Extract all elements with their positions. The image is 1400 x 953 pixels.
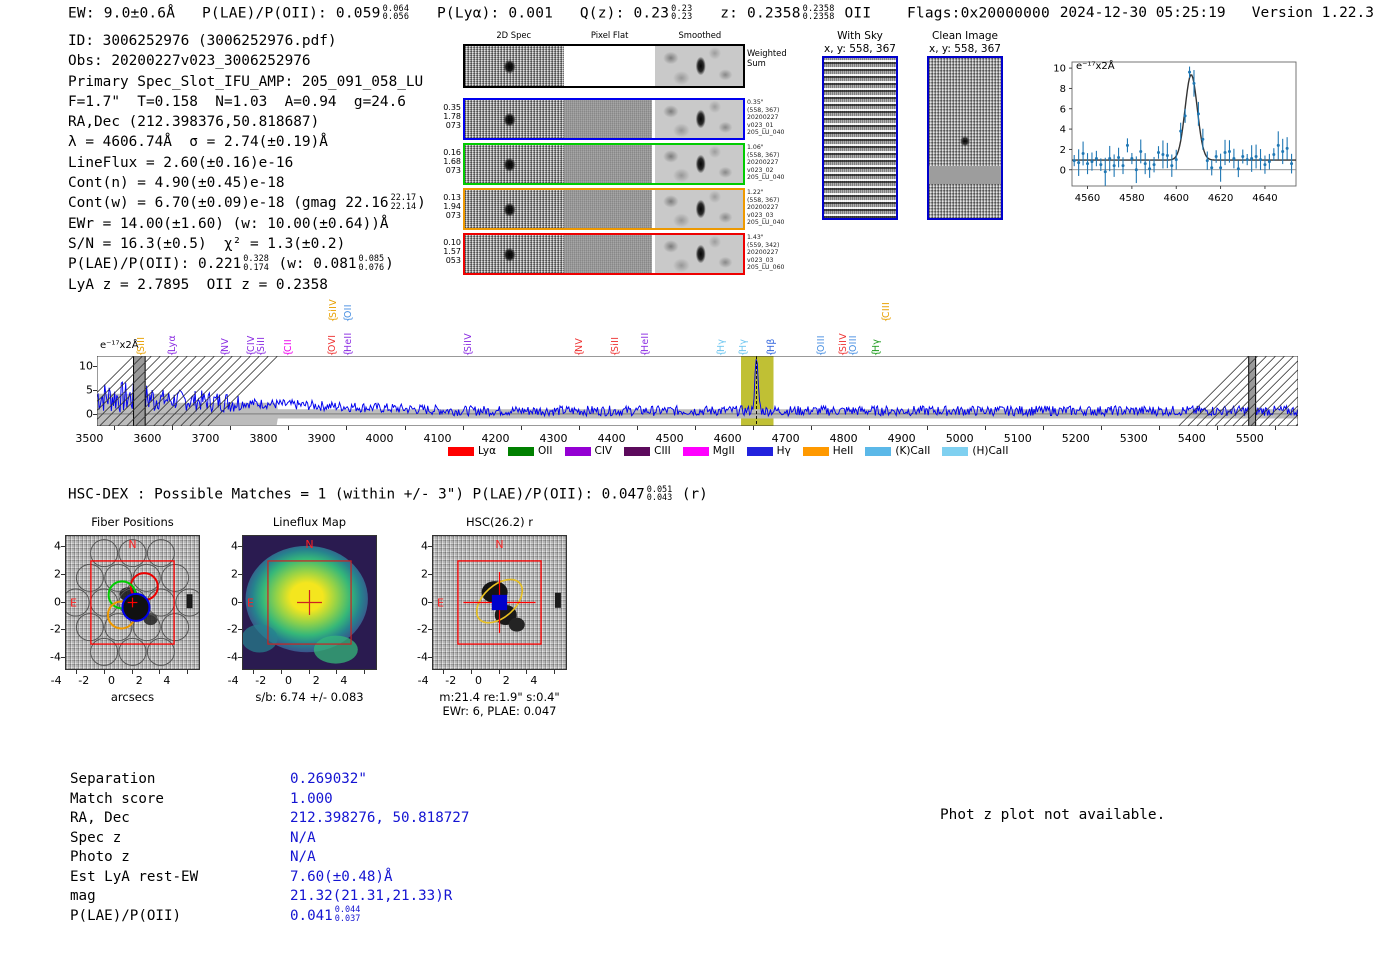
header-plae-label: P(LAE)/P(OII): 0.059 (202, 6, 381, 22)
spectrum-xtick: 3600 (122, 432, 172, 445)
imaging-ytick: 4 (406, 540, 428, 553)
spectrum-xtick: 3500 (64, 432, 114, 445)
exposure-2dspec (465, 145, 564, 183)
imaging-ytick: -2 (39, 623, 61, 636)
spectrum-xtick: 4900 (877, 432, 927, 445)
svg-text:4600: 4600 (1164, 193, 1189, 204)
spectrum-xtick: 4500 (645, 432, 695, 445)
header-plae-range: 0.0640.056 (383, 5, 410, 22)
spectrum-line-brace: { (766, 350, 777, 356)
legend-label: MgII (713, 445, 735, 457)
spectrum-line-label: Hβ (766, 312, 777, 352)
spectrum-line-brace: { (327, 350, 338, 356)
legend-item: CIII (624, 445, 671, 457)
exposure-pixel-flat (564, 235, 652, 273)
match-row-label: Photo z (70, 848, 130, 868)
exposure-2dspec (465, 100, 564, 138)
svg-text:4640: 4640 (1252, 193, 1277, 204)
legend-swatch (747, 447, 773, 456)
match-row-value: N/A (290, 829, 316, 849)
spectrum-line-brace: { (640, 350, 651, 356)
svg-text:4560: 4560 (1075, 193, 1100, 204)
spectrum-xtick: 5000 (935, 432, 985, 445)
spectrum-line-label: SiII (256, 312, 267, 352)
spectrum-xtick: 4700 (761, 432, 811, 445)
source-info-block: ID: 3006252976 (3006252976.pdf) Obs: 202… (68, 31, 426, 295)
exposure-pixel-flat (564, 100, 652, 138)
spectrum-line-label: Hγ (716, 312, 727, 352)
exposure-left-values: 0.161.68073 (427, 148, 461, 176)
spectrum-line-brace: { (256, 350, 267, 356)
spectrum-xtick: 3800 (238, 432, 288, 445)
svg-text:6: 6 (1060, 104, 1066, 115)
spectrum-line-label: SiIV (463, 312, 474, 352)
info-line: Obs: 20200227v023_3006252976 (68, 51, 426, 71)
spectrum-line-label: NV (220, 312, 231, 352)
exposure-right-meta: 1.06"(558, 367)20200227v023_02205_LU_040 (747, 144, 793, 182)
exposure-smoothed (655, 235, 743, 273)
spectrum-line-label: CIII (881, 278, 892, 318)
spec2d-column-title: Pixel Flat (570, 30, 650, 40)
imaging-ytick: 0 (216, 595, 238, 608)
spectrum-line-label: CII (283, 312, 294, 352)
match-row-label: P(LAE)/P(OII) (70, 907, 181, 927)
svg-text:0: 0 (1060, 165, 1066, 176)
legend-swatch (448, 447, 474, 456)
match-row-label: Est LyA rest-EW (70, 868, 198, 888)
imaging-ytick: -4 (216, 650, 238, 663)
exposure-row (463, 143, 745, 185)
exposure-right-meta: 1.43"(559, 342)20200227v023_03205_LU_060 (747, 234, 793, 272)
match-row-value: 1.000 (290, 790, 333, 810)
exposure-smoothed (655, 100, 743, 138)
svg-text:4620: 4620 (1208, 193, 1233, 204)
match-row-value: N/A (290, 848, 316, 868)
imaging-ytick: 2 (39, 567, 61, 580)
match-row-value: 21.32(21.31,21.33)R (290, 887, 452, 907)
exposure-row (463, 188, 745, 230)
info-line: RA,Dec (212.398376,50.818687) (68, 112, 426, 132)
spectrum-line-brace: { (283, 350, 294, 356)
svg-text:2: 2 (1060, 145, 1066, 156)
version-label: Version 1.22.3 (1252, 5, 1374, 21)
weighted-sum-row (463, 44, 745, 88)
imaging-ytick: 2 (216, 567, 238, 580)
spectrum-xtick: 5300 (1109, 432, 1159, 445)
imaging-caption: m:21.4 re:1.9" s:0.4" (432, 690, 567, 704)
compass-east: E (437, 596, 444, 609)
spectrum-ytick: 5 (71, 383, 93, 396)
svg-text:8: 8 (1060, 84, 1066, 95)
spectrum-line-brace: { (574, 350, 585, 356)
compass-north: N (128, 538, 136, 551)
summary-header-line: EW: 9.0±0.6Å P(LAE)/P(OII): 0.0590.0640.… (68, 5, 1050, 22)
cutout-with-sky: With Skyx, y: 558, 367 (820, 30, 900, 220)
match-row-label: RA, Dec (70, 809, 130, 829)
hscdex-headline: HSC-DEX : Possible Matches = 1 (within +… (68, 486, 708, 503)
spectrum-line-label: HeII (640, 312, 651, 352)
compass-north: N (305, 538, 313, 551)
legend-item: (H)CaII (942, 445, 1008, 457)
spectrum-xtick: 4400 (587, 432, 637, 445)
imaging-xtick: 4 (514, 674, 554, 687)
spectrum-line-brace: { (838, 350, 849, 356)
legend-swatch (565, 447, 591, 456)
weighted-sum-flat (564, 46, 652, 86)
spectrum-line-brace: { (610, 350, 621, 356)
exposure-left-values: 0.131.94073 (427, 193, 461, 221)
cutout-clean-image: Clean Imagex, y: 558, 367 (925, 30, 1005, 220)
photz-note: Phot z plot not available. (940, 807, 1165, 823)
spectrum-line-brace: { (738, 350, 749, 356)
match-row-label: Match score (70, 790, 164, 810)
info-redshifts: LyA z = 2.7895 OII z = 0.2358 (68, 275, 426, 295)
spectrum-xtick: 4600 (703, 432, 753, 445)
weighted-sum-label: WeightedSum (747, 48, 793, 68)
legend-label: Hγ (777, 445, 791, 457)
info-plae: P(LAE)/P(OII): 0.2210.3280.174 (w: 0.081… (68, 254, 426, 274)
spectrum-line-brace: { (328, 316, 339, 322)
imaging-ytick: -2 (406, 623, 428, 636)
imaging-ytick: 0 (39, 595, 61, 608)
legend-label: (K)CaII (895, 445, 930, 457)
spectrum-line-label: Lyα (167, 312, 178, 352)
info-line: ID: 3006252976 (3006252976.pdf) (68, 31, 426, 51)
svg-text:4: 4 (1060, 125, 1066, 136)
compass-east: E (70, 596, 77, 609)
spectrum-xtick: 5100 (993, 432, 1043, 445)
spectrum-legend: LyαOIICIVCIIIMgIIHγHeII(K)CaII(H)CaII (448, 445, 1008, 457)
header-qz-range: 0.230.23 (671, 5, 692, 22)
timestamp: 2024-12-30 05:25:19 (1060, 5, 1226, 21)
exposure-smoothed (655, 145, 743, 183)
imaging-panel: Lineflux MapNE420-2-4-4-2024s/b: 6.74 +/… (242, 535, 377, 670)
legend-swatch (942, 447, 968, 456)
spectrum-line-label: NV (574, 312, 585, 352)
spectrum-line-brace: { (463, 350, 474, 356)
imaging-ytick: 2 (406, 567, 428, 580)
info-line: F=1.7" T=0.158 N=1.03 A=0.94 g=24.6 (68, 92, 426, 112)
info-line: S/N = 16.3(±0.5) χ² = 1.3(±0.2) (68, 234, 426, 254)
spectrum-ytick: 0 (71, 407, 93, 420)
exposure-2dspec (465, 235, 564, 273)
legend-item: HeII (803, 445, 854, 457)
exposure-right-meta: 1.22"(558, 367)20200227v023_03205_LU_040 (747, 189, 793, 227)
header-plya: P(Lyα): 0.001 (437, 6, 553, 22)
spectrum-line-label: SiII (610, 312, 621, 352)
match-row-label: Separation (70, 770, 155, 790)
cutout-title: With Skyx, y: 558, 367 (820, 30, 900, 56)
spectrum-line-label: OIII (816, 312, 827, 352)
imaging-panel-title: Lineflux Map (242, 515, 377, 529)
spectrum-line-brace: { (716, 350, 727, 356)
emission-line-fit-plot: 024681045604580460046204640e⁻¹⁷x2Å (1040, 52, 1302, 238)
weighted-sum-2dspec (465, 46, 564, 86)
match-row-value: 0.269032" (290, 770, 367, 790)
match-row-value: 212.398276, 50.818727 (290, 809, 469, 829)
spectrum-line-brace: { (220, 350, 231, 356)
spectrum-line-label: OII (343, 278, 354, 318)
match-row-label: mag (70, 887, 96, 907)
spectrum-line-label: OIII (848, 312, 859, 352)
svg-text:10: 10 (1053, 64, 1066, 75)
imaging-panel: HSC(26.2) rNE420-2-4-4-2024m:21.4 re:1.9… (432, 535, 567, 670)
info-line: LineFlux = 2.60(±0.16)e-16 (68, 153, 426, 173)
imaging-ytick: -2 (216, 623, 238, 636)
exposure-pixel-flat (564, 145, 652, 183)
exposure-pixel-flat (564, 190, 652, 228)
imaging-frame: NE (65, 535, 200, 670)
match-row-value: 7.60(±0.48)Å (290, 868, 393, 888)
spectrum-line-label: SiII (136, 312, 147, 352)
info-cont-w: Cont(w) = 6.70(±0.09)e-18 (gmag 22.1622.… (68, 193, 426, 213)
info-line: λ = 4606.74Å σ = 2.74(±0.19)Å (68, 132, 426, 152)
spectrum-line-brace: { (167, 350, 178, 356)
spectrum-unit-label: e⁻¹⁷x2Å (100, 340, 139, 351)
legend-label: CIV (595, 445, 613, 457)
legend-swatch (683, 447, 709, 456)
clean-image (927, 56, 1003, 220)
legend-label: Lyα (478, 445, 496, 457)
legend-swatch (865, 447, 891, 456)
header-z-kind: OII (844, 6, 871, 22)
spectrum-line-brace: { (848, 350, 859, 356)
imaging-ytick: 4 (39, 540, 61, 553)
imaging-panel-title: HSC(26.2) r (432, 515, 567, 529)
exposure-left-values: 0.101.57053 (427, 238, 461, 266)
spectrum-line-label: Hγ (738, 312, 749, 352)
spec2d-column-title: Smoothed (660, 30, 740, 40)
info-line: EWr = 14.00(±1.60) (w: 10.00(±0.64))Å (68, 214, 426, 234)
match-row-value: 0.0410.0440.037 (290, 907, 361, 927)
svg-text:4580: 4580 (1119, 193, 1144, 204)
imaging-caption-2: EWr: 6, PLAE: 0.047 (432, 704, 567, 718)
legend-swatch (508, 447, 534, 456)
legend-label: (H)CaII (972, 445, 1008, 457)
legend-label: OII (538, 445, 552, 457)
imaging-panel: Fiber PositionsNE420-2-4-4-2024arcsecs (65, 535, 200, 670)
timestamp-version: 2024-12-30 05:25:19 Version 1.22.3 (1060, 5, 1374, 21)
legend-item: Lyα (448, 445, 496, 457)
compass-north: N (495, 538, 503, 551)
imaging-frame: NE (242, 535, 377, 670)
imaging-ytick: -4 (39, 650, 61, 663)
full-spectrum-plot: 0510350036003700380039004000410042004300… (97, 356, 1298, 426)
legend-item: MgII (683, 445, 735, 457)
header-z-label: z: 0.2358 (720, 6, 800, 22)
spectrum-xtick: 5200 (1051, 432, 1101, 445)
info-line: Primary Spec_Slot_IFU_AMP: 205_091_058_L… (68, 72, 426, 92)
spectrum-xtick: 4300 (529, 432, 579, 445)
exposure-row (463, 233, 745, 275)
exposure-left-values: 0.351.78073 (427, 103, 461, 131)
header-qz-label: Q(z): 0.23 (580, 6, 669, 22)
spectrum-xtick: 4800 (819, 432, 869, 445)
imaging-xtick: 4 (147, 674, 187, 687)
spectrum-line-brace: { (136, 350, 147, 356)
info-line: Cont(n) = 4.90(±0.45)e-18 (68, 173, 426, 193)
legend-item: (K)CaII (865, 445, 930, 457)
imaging-xtick: 4 (324, 674, 364, 687)
spectrum-line-label: SiIV (838, 312, 849, 352)
legend-item: CIV (565, 445, 613, 457)
imaging-caption: arcsecs (65, 690, 200, 704)
spectrum-xtick: 4100 (413, 432, 463, 445)
exposure-right-meta: 0.35"(558, 367)20200227v023_01205_LU_040 (747, 99, 793, 137)
weighted-sum-smoothed (655, 46, 743, 86)
match-row-label: Spec z (70, 829, 121, 849)
imaging-frame: NE (432, 535, 567, 670)
spectrum-xtick: 4200 (471, 432, 521, 445)
imaging-ytick: 0 (406, 595, 428, 608)
fit-plot-unit-label: e⁻¹⁷x2Å (1076, 61, 1115, 72)
spec2d-column-title: 2D Spec (474, 30, 554, 40)
legend-label: CIII (654, 445, 671, 457)
spectrum-line-brace: { (881, 316, 892, 322)
spectrum-xtick: 4000 (355, 432, 405, 445)
imaging-ytick: 4 (216, 540, 238, 553)
spectrum-line-brace: { (871, 350, 882, 356)
spectrum-line-brace: { (343, 316, 354, 322)
spectrum-line-brace: { (343, 350, 354, 356)
header-ew: EW: 9.0±0.6Å (68, 6, 175, 22)
with-sky-image (822, 56, 898, 220)
header-flags: Flags:0x20000000 (907, 6, 1050, 22)
imaging-ytick: -4 (406, 650, 428, 663)
legend-swatch (624, 447, 650, 456)
spectrum-ytick: 10 (71, 359, 93, 372)
two-d-spectrum-mosaic: 2D SpecPixel FlatSmoothedWeightedSum0.35… (425, 30, 785, 250)
spectrum-line-label: SiIV (328, 278, 339, 318)
spectrum-xtick: 5400 (1167, 432, 1217, 445)
compass-east: E (247, 596, 254, 609)
spectrum-xtick: 5500 (1225, 432, 1275, 445)
cutout-title: Clean Imagex, y: 558, 367 (925, 30, 1005, 56)
legend-item: Hγ (747, 445, 791, 457)
imaging-panel-title: Fiber Positions (65, 515, 200, 529)
spectrum-line-brace: { (816, 350, 827, 356)
legend-label: HeII (833, 445, 854, 457)
spectrum-xtick: 3700 (180, 432, 230, 445)
header-z-range: 0.23580.2358 (803, 5, 835, 22)
exposure-2dspec (465, 190, 564, 228)
imaging-caption: s/b: 6.74 +/- 0.083 (242, 690, 377, 704)
exposure-smoothed (655, 190, 743, 228)
legend-swatch (803, 447, 829, 456)
legend-item: OII (508, 445, 552, 457)
spectrum-line-label: Hγ (871, 312, 882, 352)
spectrum-xtick: 3900 (296, 432, 346, 445)
exposure-row (463, 98, 745, 140)
